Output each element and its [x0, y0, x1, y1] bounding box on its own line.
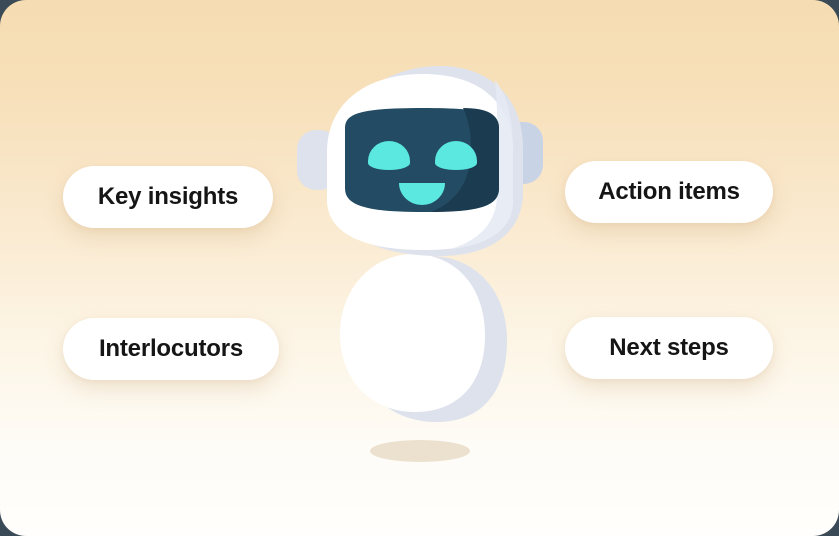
pill-key-insights[interactable]: Key insights — [63, 166, 273, 228]
pill-action-items[interactable]: Action items — [565, 161, 773, 223]
pill-action-items-label: Action items — [598, 178, 740, 206]
pill-interlocutors-label: Interlocutors — [99, 335, 243, 363]
body-front-shape — [340, 254, 485, 412]
robot-assistant-illustration — [285, 60, 555, 470]
pill-interlocutors[interactable]: Interlocutors — [63, 318, 279, 380]
pill-next-steps[interactable]: Next steps — [565, 317, 773, 379]
ai-assistant-card: Key insights Action items Interlocutors … — [0, 0, 839, 536]
pill-key-insights-label: Key insights — [98, 183, 238, 211]
ground-shadow-ellipse — [370, 440, 470, 462]
pill-next-steps-label: Next steps — [609, 334, 728, 362]
